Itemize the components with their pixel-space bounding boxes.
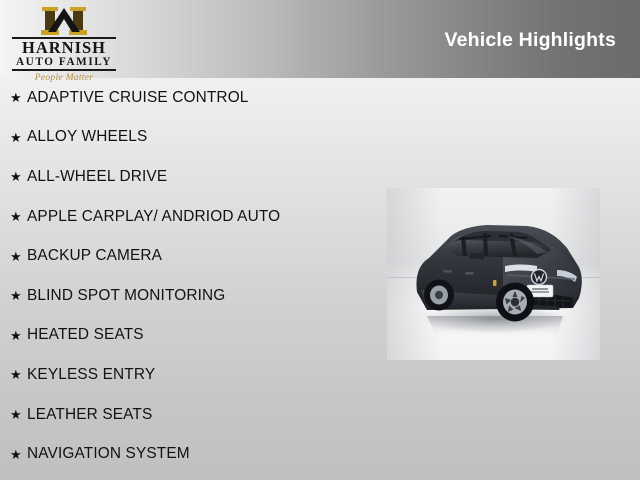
star-icon: ★: [10, 210, 27, 223]
list-item: ★ ALL-WHEEL DRIVE: [0, 157, 370, 197]
star-icon: ★: [10, 91, 27, 104]
page-header: HARNISH AUTO FAMILY People Matter Vehicl…: [0, 0, 640, 78]
logo-subtitle: AUTO FAMILY: [12, 56, 116, 68]
feature-label: HEATED SEATS: [27, 326, 144, 344]
vehicle-highlights-page: HARNISH AUTO FAMILY People Matter Vehicl…: [0, 0, 640, 480]
star-icon: ★: [10, 329, 27, 342]
feature-label: BLIND SPOT MONITORING: [27, 287, 225, 305]
list-item: ★ ADAPTIVE CRUISE CONTROL: [0, 78, 370, 118]
vehicle-illustration: [387, 188, 600, 360]
feature-label: LEATHER SEATS: [27, 406, 152, 424]
logo-name: HARNISH: [12, 40, 116, 56]
list-item: ★ NAVIGATION SYSTEM: [0, 434, 370, 474]
star-icon: ★: [10, 408, 27, 421]
star-icon: ★: [10, 250, 27, 263]
star-icon: ★: [10, 448, 27, 461]
feature-label: ALL-WHEEL DRIVE: [27, 168, 167, 186]
vehicle-photo: [387, 188, 600, 360]
feature-label: ADAPTIVE CRUISE CONTROL: [27, 89, 249, 107]
logo-divider-bottom: [12, 69, 116, 71]
star-icon: ★: [10, 131, 27, 144]
list-item: ★ HEATED SEATS: [0, 316, 370, 356]
star-icon: ★: [10, 368, 27, 381]
feature-label: KEYLESS ENTRY: [27, 366, 155, 384]
list-item: ★ LEATHER SEATS: [0, 395, 370, 435]
feature-label: BACKUP CAMERA: [27, 247, 162, 265]
harnish-h-emblem-icon: [12, 6, 116, 36]
vehicle-highlights-list: ★ ADAPTIVE CRUISE CONTROL ★ ALLOY WHEELS…: [0, 78, 370, 474]
page-title: Vehicle Highlights: [444, 29, 616, 52]
list-item: ★ BACKUP CAMERA: [0, 236, 370, 276]
vw-roundel-icon: [532, 270, 547, 285]
list-item: ★ BLIND SPOT MONITORING: [0, 276, 370, 316]
feature-label: ALLOY WHEELS: [27, 128, 147, 146]
dealer-logo: HARNISH AUTO FAMILY People Matter: [12, 6, 116, 74]
feature-label: NAVIGATION SYSTEM: [27, 445, 190, 463]
list-item: ★ APPLE CARPLAY/ ANDRIOD AUTO: [0, 197, 370, 237]
list-item: ★ KEYLESS ENTRY: [0, 355, 370, 395]
star-icon: ★: [10, 170, 27, 183]
star-icon: ★: [10, 289, 27, 302]
feature-label: APPLE CARPLAY/ ANDRIOD AUTO: [27, 208, 280, 226]
list-item: ★ ALLOY WHEELS: [0, 118, 370, 158]
